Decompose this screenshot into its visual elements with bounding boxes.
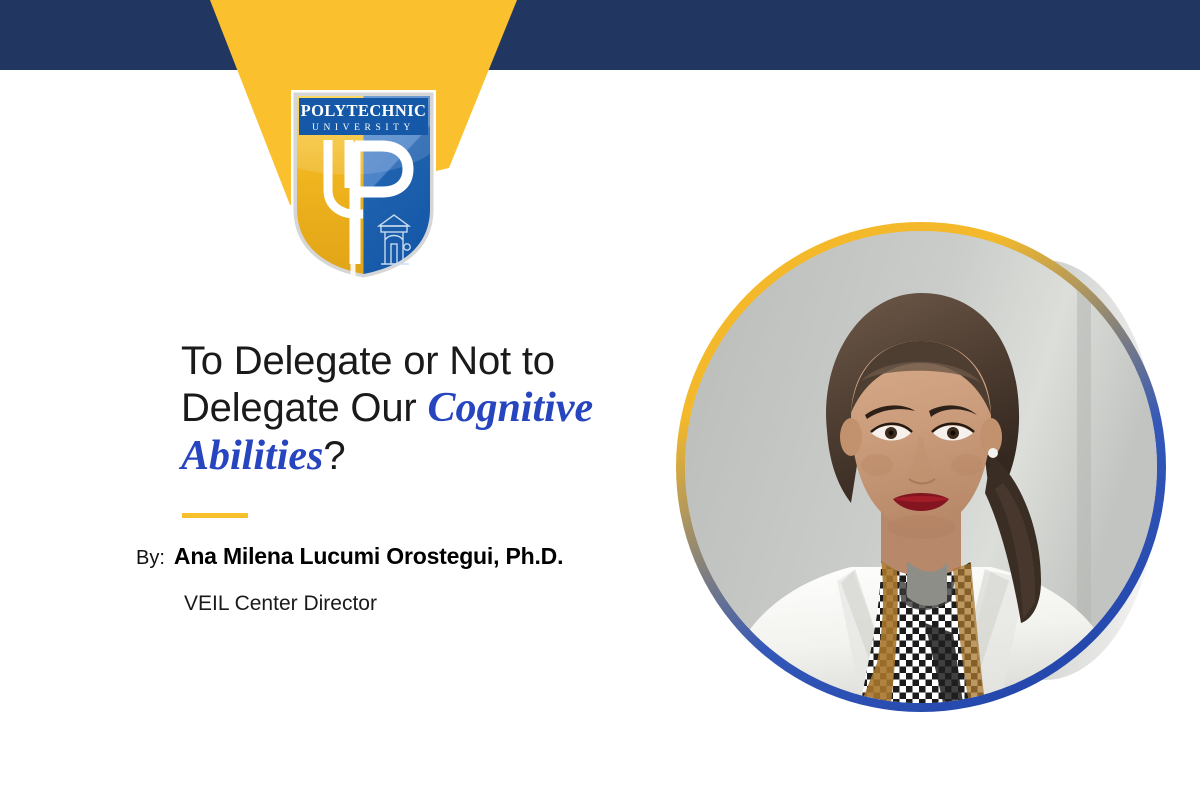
avatar bbox=[676, 222, 1166, 712]
article-banner-canvas: POLYTECHNIC UNIVERSITY bbox=[0, 0, 1200, 800]
byline-role: VEIL Center Director bbox=[184, 592, 377, 616]
logo-banner-line-1: POLYTECHNIC bbox=[301, 101, 427, 120]
gold-divider-rule bbox=[182, 513, 248, 518]
headline-part-2: ? bbox=[323, 434, 345, 478]
polytechnic-university-logo: POLYTECHNIC UNIVERSITY bbox=[287, 84, 440, 280]
portrait-photo bbox=[685, 231, 1157, 703]
top-navy-band bbox=[0, 0, 1200, 70]
headline-text: To Delegate or Not to Delegate Our Cogni… bbox=[181, 338, 661, 481]
byline: By: Ana Milena Lucumi Orostegui, Ph.D. bbox=[136, 543, 563, 570]
byline-author: Ana Milena Lucumi Orostegui, Ph.D. bbox=[174, 543, 563, 570]
byline-label: By: bbox=[136, 547, 165, 570]
logo-banner-line-2: UNIVERSITY bbox=[312, 123, 415, 133]
page-title: To Delegate or Not to Delegate Our Cogni… bbox=[181, 338, 661, 481]
